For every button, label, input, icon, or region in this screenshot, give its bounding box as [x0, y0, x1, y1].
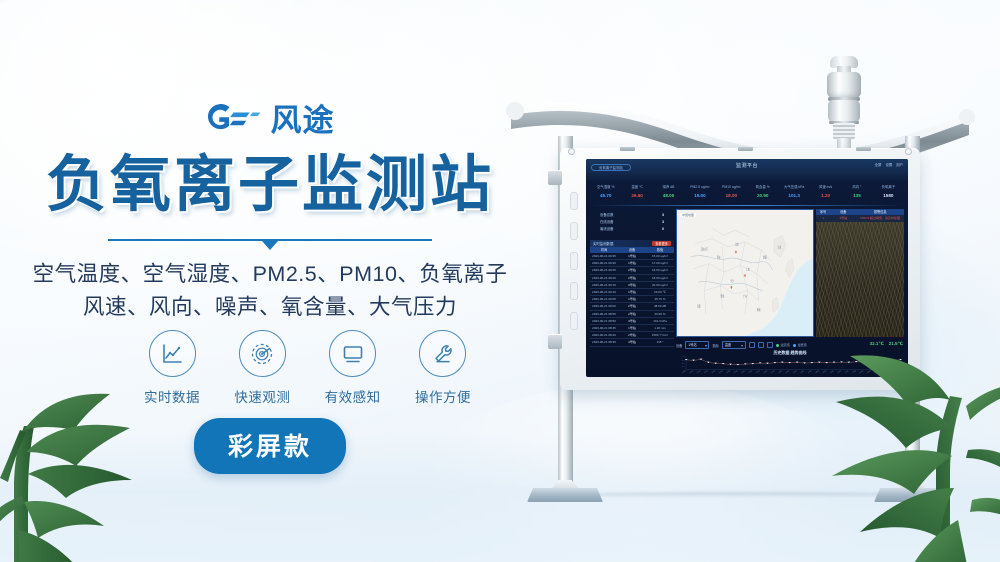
cell-value: 1.20 m/s: [646, 325, 674, 331]
cell-device: 2号站: [618, 267, 646, 273]
svg-text:日本: 日本: [778, 245, 782, 250]
metric-card: 氧含量 % 20.90: [747, 183, 778, 205]
stat-value: 0: [662, 226, 664, 233]
svg-text:20:00: 20:00: [830, 370, 835, 373]
view-more-button[interactable]: 查看更多: [652, 241, 671, 246]
metric-label: 负氧离子: [873, 183, 904, 191]
svg-text:印度: 印度: [697, 304, 701, 309]
device-select-label: 设备: [676, 343, 682, 348]
svg-text:23:00: 23:00: [852, 370, 857, 373]
promo-banner: 风途 负氧离子监测站 空气温度、空气湿度、PM2.5、PM10、负氧离子 风速、…: [0, 0, 1000, 562]
subtitle-line-2: 风速、风向、噪声、氧含量、大气压力: [0, 291, 540, 324]
device-stats: 设备总数 3 在线设备 3 离线设备 0: [590, 209, 674, 237]
metric-card: 负氧离子 1580: [873, 183, 904, 205]
base-plate-left: [527, 480, 603, 502]
stat-label: 离线设备: [600, 226, 614, 233]
metric-value: 20.90: [747, 191, 778, 201]
legend-min-label: 最低值: [798, 343, 807, 347]
metric-label: PM10 ug/m³: [716, 183, 747, 191]
cell-device: 1号站: [618, 289, 646, 295]
cell-time: 2023-06-21 08:50: [590, 318, 618, 324]
svg-text:广州: 广州: [743, 294, 747, 299]
svg-text:12:00: 12:00: [771, 370, 776, 373]
subtitle-line-1: 空气温度、空气湿度、PM2.5、PM10、负氧离子: [0, 258, 540, 291]
hud-min-value: 21.5℃: [889, 341, 903, 347]
metric-card: 大气压强 kPa 101.3: [778, 183, 809, 205]
cell-value: 15.00 ug/m³: [646, 253, 674, 259]
table-row[interactable]: 2023-06-21 09:153号站20.00 ug/m³: [590, 282, 674, 289]
feature-icon-circle: [149, 330, 196, 377]
svg-text:上海: 上海: [746, 267, 750, 272]
metric-value: 45.70: [590, 191, 621, 201]
legend-max: 最高值: [776, 343, 790, 347]
svg-text:韩国: 韩国: [763, 255, 767, 260]
svg-text:15:00: 15:00: [793, 370, 798, 373]
stat-value: 3: [662, 219, 664, 226]
cell-device: 2号站: [618, 332, 646, 338]
metric-value: 1580: [873, 191, 904, 201]
svg-text:16:00: 16:00: [800, 370, 805, 373]
enclosure-top-trim: [560, 144, 920, 152]
chart-hud: 32.1℃ 21.5℃: [870, 341, 903, 347]
dashboard-toolbar: 全屏 设置 用户: [875, 162, 903, 167]
svg-text:02:00: 02:00: [874, 370, 879, 373]
map-label: 中国地图: [680, 213, 696, 217]
chart-view-button-3[interactable]: [767, 342, 773, 348]
page-title: 负氧离子监测站: [0, 152, 540, 216]
model-badge[interactable]: 彩屏款: [194, 418, 346, 474]
table-row[interactable]: 2023-06-21 09:301号站17.00 ug/m³: [590, 260, 674, 267]
svg-text:07:00: 07:00: [734, 370, 739, 373]
table-row[interactable]: 2023-06-21 08:451号站1.20 m/s: [590, 325, 674, 332]
svg-text:长沙: 长沙: [730, 279, 734, 284]
trend-chart-svg: 01020304000:0001:0002:0003:0004:0005:000…: [676, 355, 904, 375]
vent-slot: [570, 192, 578, 210]
base-plate-right: [874, 480, 950, 502]
svg-text:00:00: 00:00: [859, 370, 864, 373]
svg-text:04:00: 04:00: [711, 370, 716, 373]
camera-feed: [816, 222, 904, 337]
cell-device: 2号站: [618, 275, 646, 281]
svg-text:昆明: 昆明: [721, 294, 725, 299]
hero-text-column: 风途 负氧离子监测站 空气温度、空气湿度、PM2.5、PM10、负氧离子 风速、…: [0, 0, 540, 562]
cell-device: 3号站: [618, 282, 646, 288]
feature-label: 有效感知: [316, 386, 390, 406]
brand-logo: 风途: [0, 103, 540, 137]
svg-text:13:00: 13:00: [778, 370, 783, 373]
svg-text:乌鲁木齐: 乌鲁木齐: [701, 247, 708, 252]
monitor-icon: [340, 341, 366, 367]
legend-min: 最低值: [793, 343, 807, 347]
cell-time: 2023-06-21 08:55: [590, 311, 618, 317]
svg-text:03:00: 03:00: [704, 370, 709, 373]
svg-text:02:00: 02:00: [697, 370, 702, 373]
metric-divider: [590, 205, 904, 206]
dashboard-screen[interactable]: 监测平台 负氧离子监测站 全屏 设置 用户 空气湿度 % 45.70 温度 ℃ …: [586, 159, 908, 377]
cell-value: 16.00 ug/m³: [646, 267, 674, 273]
svg-text:01:00: 01:00: [867, 370, 872, 373]
table-body: 2023-06-21 09:351号站15.00 ug/m³2023-06-21…: [590, 253, 674, 347]
cell-value: 1580 个/cm³: [646, 332, 674, 338]
feature-icon-circle: [419, 330, 466, 377]
alarm-index: 1: [816, 215, 830, 221]
svg-text:11:00: 11:00: [763, 370, 768, 373]
stat-row: 设备总数 3: [596, 212, 668, 219]
metric-card: 温度 ℃ 26.60: [621, 183, 652, 205]
cell-value: 101.3 kPa: [646, 318, 674, 324]
alarm-message: PM2.5 超过阈值，请及时处理: [856, 215, 904, 221]
metric-value: 135: [841, 191, 872, 201]
legend-max-label: 最高值: [781, 343, 790, 347]
mount-tab: [738, 147, 753, 151]
metric-card: PM2.5 ug/m³ 15.00: [684, 183, 715, 205]
metric-value: 1.20: [810, 191, 841, 201]
cell-time: 2023-06-21 08:45: [590, 325, 618, 331]
metric-value: 15.00: [684, 191, 715, 201]
svg-text:40: 40: [682, 356, 684, 357]
svg-text:0: 0: [683, 370, 684, 371]
vent-slot: [570, 222, 578, 240]
feature-item-easy-operation: 操作方便: [406, 330, 480, 406]
feature-item-realtime-data: 实时数据: [135, 330, 209, 406]
svg-text:18:00: 18:00: [815, 370, 820, 373]
vent-slot: [570, 282, 578, 300]
svg-text:08:00: 08:00: [741, 370, 746, 373]
cell-time: 2023-06-21 09:00: [590, 303, 618, 309]
svg-text:17:00: 17:00: [808, 370, 813, 373]
metric-select-label: 指标: [712, 343, 718, 348]
metric-value: 101.3: [778, 191, 809, 201]
brand-logo-text: 风途: [271, 105, 335, 136]
metric-card: 空气湿度 % 45.70: [590, 183, 621, 205]
china-map[interactable]: 北京 西安 乌鲁木齐 上海 长沙 昆明 广州 日本 海南 韩国 印度: [676, 209, 814, 337]
svg-text:21:00: 21:00: [837, 370, 842, 373]
radar-scan-icon: [249, 341, 275, 367]
table-row[interactable]: 2023-06-21 09:252号站16.00 ug/m³: [590, 267, 674, 274]
feature-label: 操作方便: [406, 386, 480, 406]
trend-chart[interactable]: 01020304000:0001:0002:0003:0004:0005:000…: [676, 355, 904, 375]
metric-card: 风速 m/s 1.20: [810, 183, 841, 205]
ground-shadow-line: [560, 492, 920, 498]
feature-icon-circle: [329, 330, 376, 377]
stat-value: 3: [662, 212, 664, 219]
cell-time: 2023-06-21 09:30: [590, 260, 618, 266]
metric-card: 风向 ° 135: [841, 183, 872, 205]
cell-time: 2023-06-21 08:40: [590, 332, 618, 338]
map-graphic: 北京 西安 乌鲁木齐 上海 长沙 昆明 广州 日本 海南 韩国 印度: [677, 210, 813, 336]
cell-time: 2023-06-21 09:25: [590, 267, 618, 273]
svg-text:海南: 海南: [757, 307, 761, 312]
metric-value: 26.60: [621, 191, 652, 201]
vent-slot: [570, 312, 578, 330]
cell-value: 45.70 %: [646, 296, 674, 302]
svg-text:14:00: 14:00: [785, 370, 790, 373]
metric-label: 风速 m/s: [810, 183, 841, 191]
svg-text:10: 10: [682, 366, 684, 367]
legend-dot-max: [776, 344, 779, 347]
metric-strip: 空气湿度 % 45.70 温度 ℃ 26.60 噪声 dB 48.00 PM2.…: [590, 183, 904, 205]
metric-label: 温度 ℃: [621, 183, 652, 191]
cell-device: 1号站: [618, 325, 646, 331]
feature-item-effective-sensing: 有效感知: [316, 330, 390, 406]
cell-device: 2号站: [618, 311, 646, 317]
metric-value: 48.00: [653, 191, 684, 201]
svg-text:30: 30: [682, 360, 684, 361]
station-name-pill[interactable]: 负氧离子监测站: [591, 164, 631, 171]
alarm-device: 1号站: [830, 215, 856, 221]
stat-label: 在线设备: [600, 219, 614, 226]
chart-view-button-2[interactable]: [758, 342, 764, 348]
table-row[interactable]: 2023-06-21 09:202号站18.00 ug/m³: [590, 275, 674, 282]
svg-text:20: 20: [682, 363, 684, 364]
cell-time: 2023-06-21 09:20: [590, 275, 618, 281]
base-plate: [874, 488, 950, 502]
table-row[interactable]: 2023-06-21 08:552号站20.90 %: [590, 311, 674, 318]
svg-text:03:00: 03:00: [882, 370, 887, 373]
device-select[interactable]: 1号站: [685, 341, 709, 349]
cell-device: 1号站: [618, 296, 646, 302]
cell-time: 2023-06-21 08:35: [590, 339, 618, 345]
svg-text:西安: 西安: [717, 255, 721, 260]
cell-device: 2号站: [618, 303, 646, 309]
stat-label: 设备总数: [600, 212, 614, 219]
cell-device: 1号站: [618, 260, 646, 266]
stat-row: 离线设备 0: [596, 226, 668, 233]
cell-value: 135 °: [646, 339, 674, 345]
left-data-panel: 设备总数 3 在线设备 3 离线设备 0 实时监测数据: [590, 209, 674, 373]
mount-tab: [856, 147, 871, 151]
table-row[interactable]: 2023-06-21 08:353号站135 °: [590, 339, 674, 346]
metric-label: 大气压强 kPa: [778, 183, 809, 191]
table-row[interactable]: 2023-06-21 09:351号站15.00 ug/m³: [590, 253, 674, 260]
cell-value: 48.00 dB: [646, 303, 674, 309]
cell-time: 2023-06-21 09:35: [590, 253, 618, 259]
wall-bracket-top: [548, 170, 562, 185]
metric-card: 噪声 dB 48.00: [653, 183, 684, 205]
table-row[interactable]: 2023-06-21 09:101号站26.60 ℃: [590, 289, 674, 296]
toolbar-item-fullscreen[interactable]: 全屏: [875, 162, 882, 167]
alarm-and-camera-panel: 序号 设备 报警信息 1 1号站 PM2.5 超过阈值，请及时处理: [816, 209, 904, 337]
cell-time: 2023-06-21 09:10: [590, 289, 618, 295]
alarm-row: 1 1号站 PM2.5 超过阈值，请及时处理: [816, 215, 904, 221]
wrench-icon: [430, 341, 456, 367]
title-divider: [0, 236, 540, 250]
table-row[interactable]: 2023-06-21 09:002号站48.00 dB: [590, 303, 674, 310]
hero-subtitle: 空气温度、空气湿度、PM2.5、PM10、负氧离子 风速、风向、噪声、氧含量、大…: [0, 258, 540, 325]
feature-icon-circle: [239, 330, 286, 377]
cell-value: 18.00 ug/m³: [646, 275, 674, 281]
svg-text:19:00: 19:00: [822, 370, 827, 373]
metric-label: 噪声 dB: [653, 183, 684, 191]
line-chart-icon: [159, 341, 185, 367]
wall-bracket-bottom: [548, 334, 562, 349]
legend-dot-min: [793, 344, 796, 347]
table-header-bar: 实时监测数据 查看更多: [590, 240, 674, 247]
cell-value: 20.00 ug/m³: [646, 282, 674, 288]
vent-slot: [570, 252, 578, 270]
table-row[interactable]: 2023-06-21 09:051号站45.70 %: [590, 296, 674, 303]
metric-label: PM2.5 ug/m³: [684, 183, 715, 191]
hud-max-value: 32.1℃: [870, 341, 884, 347]
svg-text:05:00: 05:00: [896, 370, 901, 373]
feature-item-fast-observation: 快速观测: [225, 330, 299, 406]
metric-label: 氧含量 %: [747, 183, 778, 191]
svg-text:09:00: 09:00: [748, 370, 753, 373]
metric-label: 风向 °: [841, 183, 872, 191]
cell-value: 17.00 ug/m³: [646, 260, 674, 266]
feature-list: 实时数据 快速观测: [135, 330, 480, 406]
display-enclosure: 监测平台 负氧离子监测站 全屏 设置 用户 空气湿度 % 45.70 温度 ℃ …: [560, 148, 920, 390]
table-title: 实时监测数据: [593, 241, 613, 246]
monitoring-station-device: 监测平台 负氧离子监测站 全屏 设置 用户 空气湿度 % 45.70 温度 ℃ …: [505, 40, 975, 540]
table-row[interactable]: 2023-06-21 08:503号站101.3 kPa: [590, 318, 674, 325]
mount-tab: [620, 147, 635, 151]
cell-time: 2023-06-21 09:05: [590, 296, 618, 302]
svg-text:22:00: 22:00: [845, 370, 850, 373]
cell-value: 26.60 ℃: [646, 289, 674, 295]
metric-select[interactable]: 温度: [722, 341, 746, 349]
wind-g-logo-icon: [206, 103, 262, 137]
svg-text:06:00: 06:00: [726, 370, 731, 373]
svg-text:北京: 北京: [735, 242, 739, 247]
cell-device: 1号站: [618, 253, 646, 259]
stat-row: 在线设备 3: [596, 219, 668, 226]
cell-device: 3号站: [618, 339, 646, 345]
svg-text:10:00: 10:00: [756, 370, 761, 373]
metric-value: 18.00: [716, 191, 747, 201]
screw-icon: [568, 148, 575, 155]
table-row[interactable]: 2023-06-21 08:402号站1580 个/cm³: [590, 332, 674, 339]
svg-text:01:00: 01:00: [689, 370, 694, 373]
cell-device: 3号站: [618, 318, 646, 324]
base-plate: [527, 488, 603, 502]
toolbar-item-settings[interactable]: 设置: [885, 162, 892, 167]
svg-text:04:00: 04:00: [889, 370, 894, 373]
feature-label: 实时数据: [135, 386, 209, 406]
cell-time: 2023-06-21 09:15: [590, 282, 618, 288]
svg-text:05:00: 05:00: [719, 370, 724, 373]
chart-view-button-1[interactable]: [749, 342, 755, 348]
metric-label: 空气湿度 %: [590, 183, 621, 191]
divider-triangle-icon: [262, 241, 278, 250]
screw-icon: [905, 148, 912, 155]
dashboard-title: 监测平台: [586, 162, 908, 169]
feature-label: 快速观测: [225, 386, 299, 406]
cell-value: 20.90 %: [646, 311, 674, 317]
toolbar-item-user[interactable]: 用户: [896, 162, 903, 167]
metric-card: PM10 ug/m³ 18.00: [716, 183, 747, 205]
